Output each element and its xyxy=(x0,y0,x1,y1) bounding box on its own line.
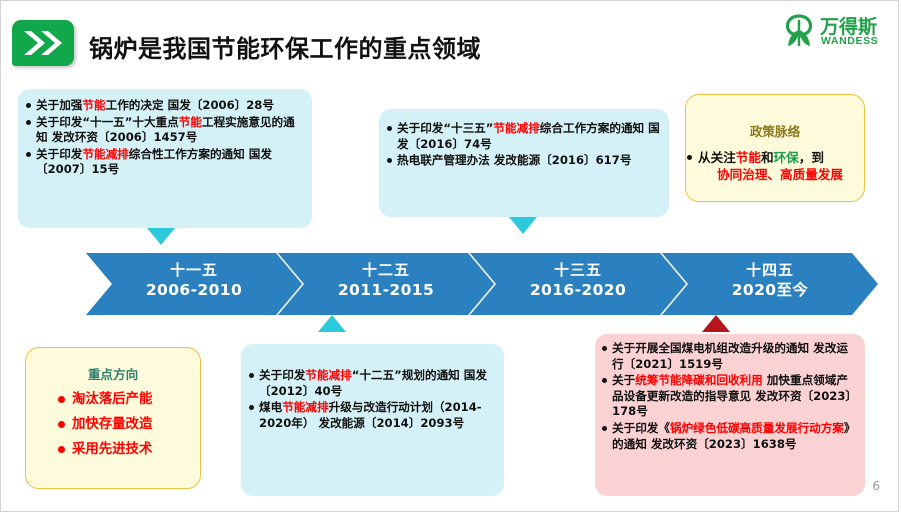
policy-context-line2: 协同治理、高质量发展 xyxy=(686,166,864,184)
card-top-mid-body: 关于印发“十三五”节能减排综合工作方案的通知 国发〔2016〕74号 热电联产管… xyxy=(379,109,669,169)
list-item: 煤电节能减排升级与改造行动计划（2014-2020年） 发改能源〔2014〕20… xyxy=(248,400,496,431)
timeline-period-0[interactable]: 十一五 2006-2010 xyxy=(86,253,302,315)
connector-down-2 xyxy=(509,217,537,234)
card-top-left-body: 关于加强节能工作的决定 国发〔2006〕28号 关于印发“十一五”十大重点节能工… xyxy=(18,89,312,178)
connector-up-2 xyxy=(702,315,730,332)
text-run: ，到 xyxy=(799,150,824,165)
slide-canvas: 锅炉是我国节能环保工作的重点领域 万得斯 WANDESS 关于加强节能工作的决定… xyxy=(0,0,899,512)
list-item: 热电联产管理办法 发改能源〔2016〕617号 xyxy=(386,153,661,169)
timeline-period-1[interactable]: 十二五 2011-2015 xyxy=(278,253,494,315)
list-item: 关于加强节能工作的决定 国发〔2006〕28号 xyxy=(25,98,303,114)
list-item: 关于印发《锅炉绿色低碳高质量发展行动方案》的通知 发改环资〔2023〕1638号 xyxy=(601,421,857,452)
list-item: 加快存量改造 xyxy=(56,416,200,433)
text-run: 节能减排 xyxy=(493,121,539,135)
card-top-mid: 关于印发“十三五”节能减排综合工作方案的通知 国发〔2016〕74号 热电联产管… xyxy=(379,109,669,217)
list-item: 采用先进技术 xyxy=(56,441,200,458)
card-bottom-right: 关于开展全国煤电机组改造升级的通知 发改运行〔2021〕1519号 关于统筹节能… xyxy=(595,334,865,496)
connector-down-1 xyxy=(147,228,175,245)
card-top-left: 关于加强节能工作的决定 国发〔2006〕28号 关于印发“十一五”十大重点节能工… xyxy=(18,89,312,228)
text-run: 关于加强 xyxy=(36,98,82,112)
card-policy-context-title: 政策脉络 xyxy=(686,121,864,140)
timeline-period-name: 十四五 xyxy=(662,261,878,280)
text-run: 和 xyxy=(761,150,774,165)
timeline-period-years: 2016-2020 xyxy=(470,280,686,300)
list-item: 淘汰落后产能 xyxy=(56,391,200,408)
text-run: 协同治理、高质量发展 xyxy=(717,167,843,182)
list-item: 关于印发“十一五”十大重点节能工程实施意见的通知 发改环资〔2006〕1457号 xyxy=(25,115,303,146)
list-item: 关于印发“十三五”节能减排综合工作方案的通知 国发〔2016〕74号 xyxy=(386,121,661,152)
text-run: 关于开展全国煤电机组改造升级的通知 发改运行〔2021〕1519号 xyxy=(612,341,848,371)
text-run: 锅炉绿色低碳高质量发展行动方案 xyxy=(670,421,844,435)
text-run: 关于 xyxy=(612,373,635,387)
list-item: 从关注节能和环保，到 xyxy=(686,149,864,166)
timeline-period-years: 2011-2015 xyxy=(278,280,494,300)
timeline-period-name: 十二五 xyxy=(278,261,494,280)
timeline-period-2[interactable]: 十三五 2016-2020 xyxy=(470,253,686,315)
text-run: 关于印发“十三五” xyxy=(397,121,493,135)
timeline: 十一五 2006-2010 十二五 2011-2015 十三五 2016-202… xyxy=(86,253,886,315)
text-run: 关于印发《 xyxy=(612,421,670,435)
timeline-period-3[interactable]: 十四五 2020至今 xyxy=(662,253,878,315)
text-run: 关于印发 xyxy=(36,147,82,161)
wandess-sprout-logo-icon xyxy=(782,14,816,53)
timeline-period-years: 2006-2010 xyxy=(86,280,302,300)
text-run: 节能 xyxy=(179,115,202,129)
card-bottom-right-body: 关于开展全国煤电机组改造升级的通知 发改运行〔2021〕1519号 关于统筹节能… xyxy=(595,334,865,452)
list-item: 关于印发节能减排综合性工作方案的通知 国发〔2007〕15号 xyxy=(25,147,303,178)
card-bottom-mid-body: 关于印发节能减排“十二五”规划的通知 国发〔2012〕40号 煤电节能减排升级与… xyxy=(241,344,504,431)
card-key-directions: 重点方向 淘汰落后产能 加快存量改造 采用先进技术 xyxy=(25,347,201,489)
brand-logo: 万得斯 WANDESS xyxy=(782,12,886,52)
text-run: 统筹节能降碳和回收利用 xyxy=(635,373,763,387)
header-badge xyxy=(12,20,74,66)
text-run: 从关注 xyxy=(698,150,736,165)
logo-text-en: WANDESS xyxy=(821,35,878,47)
card-key-directions-title: 重点方向 xyxy=(26,364,200,383)
text-run: 节能减排 xyxy=(282,400,328,414)
list-item: 关于印发节能减排“十二五”规划的通知 国发〔2012〕40号 xyxy=(248,368,496,399)
text-run: 热电联产管理办法 发改能源〔2016〕617号 xyxy=(397,153,631,167)
text-run: 煤电 xyxy=(259,400,282,414)
card-policy-context: 政策脉络 从关注节能和环保，到 协同治理、高质量发展 xyxy=(685,94,865,202)
timeline-period-name: 十一五 xyxy=(86,261,302,280)
card-bottom-mid: 关于印发节能减排“十二五”规划的通知 国发〔2012〕40号 煤电节能减排升级与… xyxy=(241,344,504,496)
page-number: 6 xyxy=(872,479,880,493)
text-run: 工作的决定 国发〔2006〕28号 xyxy=(106,98,274,112)
text-run: 节能减排 xyxy=(82,147,128,161)
text-run: 关于印发 xyxy=(259,368,305,382)
timeline-period-years: 2020至今 xyxy=(662,280,878,300)
list-item: 关于统筹节能降碳和回收利用 加快重点领域产品设备更新改造的指导意见 发改环资〔2… xyxy=(601,373,857,420)
text-run: 节能 xyxy=(82,98,105,112)
list-item: 关于开展全国煤电机组改造升级的通知 发改运行〔2021〕1519号 xyxy=(601,341,857,372)
connector-up-1 xyxy=(318,315,346,332)
text-run: 环保 xyxy=(774,150,799,165)
text-run: 节能减排 xyxy=(305,368,351,382)
text-run: 关于印发“十一五”十大重点 xyxy=(36,115,179,129)
timeline-period-name: 十三五 xyxy=(470,261,686,280)
page-title: 锅炉是我国节能环保工作的重点领域 xyxy=(89,29,481,64)
text-run: 节能 xyxy=(736,150,761,165)
